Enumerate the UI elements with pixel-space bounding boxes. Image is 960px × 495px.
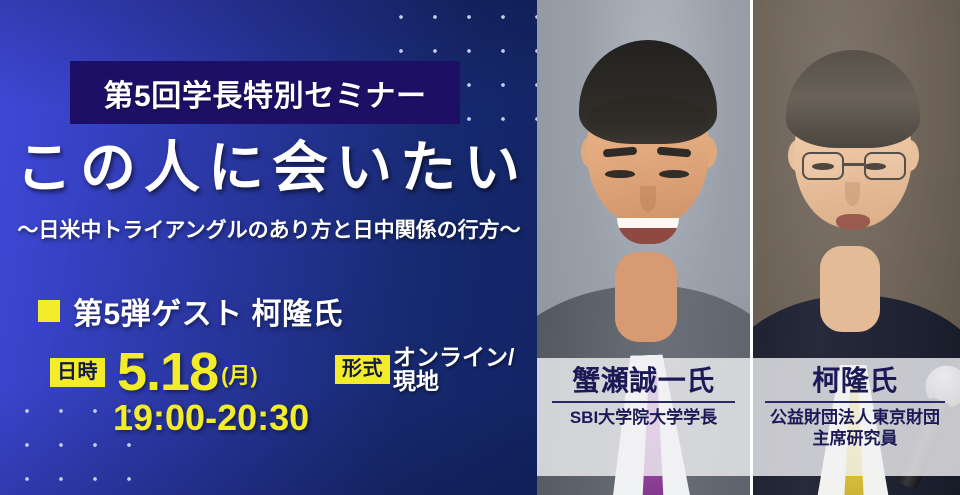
speaker-nameplate-1: 蟹瀬誠一氏 SBI大学院大学学長 xyxy=(537,358,750,476)
guest-announcement: 第5弾ゲスト 柯隆氏 xyxy=(38,289,343,333)
nameplate-divider xyxy=(552,401,735,403)
info-panel: 第5回学長特別セミナー この人に会いたい 〜日米中トライアングルのあり方と日中関… xyxy=(0,0,537,495)
speaker-card-2: 柯隆氏 公益財団法人東京財団 主席研究員 xyxy=(750,0,960,495)
seminar-banner: 第5回学長特別セミナー この人に会いたい 〜日米中トライアングルのあり方と日中関… xyxy=(0,0,960,495)
nameplate-divider xyxy=(765,401,946,403)
speaker-title: SBI大学院大学学長 xyxy=(570,408,717,429)
speaker-name: 柯隆氏 xyxy=(812,365,898,396)
speaker-photo-strip: 蟹瀬誠一氏 SBI大学院大学学長 xyxy=(537,0,960,495)
format-value-line2: 現地 xyxy=(393,368,439,394)
date-value: 5.18 xyxy=(117,349,218,395)
speaker-card-1: 蟹瀬誠一氏 SBI大学院大学学長 xyxy=(537,0,750,495)
yellow-square-bullet-icon xyxy=(38,300,60,322)
format-block: 形式 オンライン/ 現地 xyxy=(335,345,514,394)
format-value: オンライン/ 現地 xyxy=(393,345,514,394)
guest-announcement-label: 第5弾ゲスト 柯隆氏 xyxy=(73,289,343,333)
speaker-nameplate-2: 柯隆氏 公益財団法人東京財団 主席研究員 xyxy=(750,358,960,476)
photo-divider xyxy=(750,0,753,495)
speaker-title-line1: 公益財団法人東京財団 xyxy=(770,408,940,427)
time-value: 19:00-20:30 xyxy=(113,400,309,436)
page-subtitle: 〜日米中トライアングルのあり方と日中関係の行方〜 xyxy=(8,214,530,244)
speaker-title-line2: 主席研究員 xyxy=(813,429,898,448)
format-label-chip: 形式 xyxy=(335,355,390,384)
page-title: この人に会いたい xyxy=(16,140,526,196)
speaker-title: 公益財団法人東京財団 主席研究員 xyxy=(770,408,940,449)
date-label-chip: 日時 xyxy=(50,358,105,387)
series-badge-label: 第5回学長特別セミナー xyxy=(103,71,426,115)
eyeglasses-icon xyxy=(802,152,906,182)
date-block: 日時 5.18 (月) xyxy=(50,349,258,395)
format-value-line1: オンライン/ xyxy=(393,344,514,370)
speaker-name: 蟹瀬誠一氏 xyxy=(572,365,715,396)
date-dayofweek: (月) xyxy=(221,358,258,395)
series-badge: 第5回学長特別セミナー xyxy=(70,61,460,124)
